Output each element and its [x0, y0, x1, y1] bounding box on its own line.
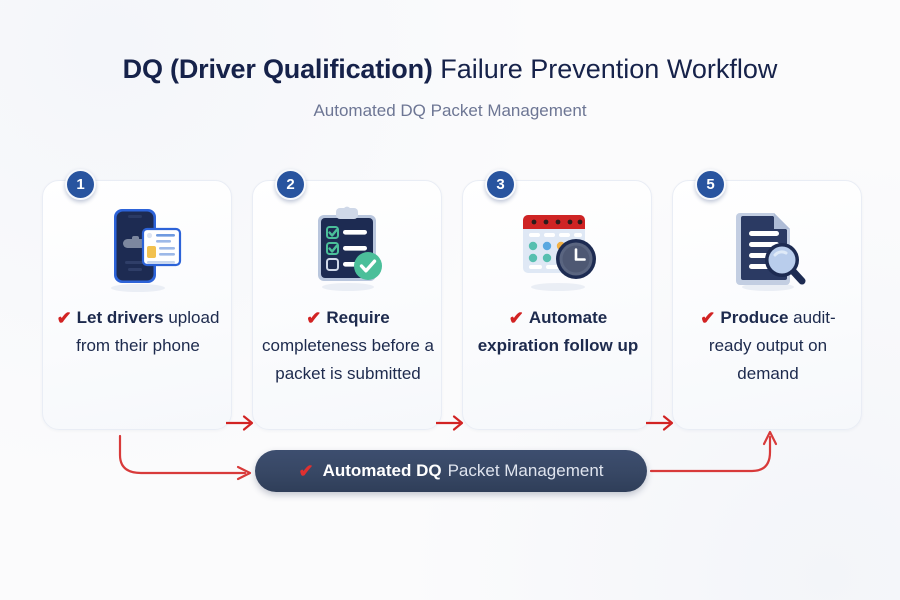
- check-icon: ✔: [298, 461, 313, 482]
- workflow-infographic: DQ (Driver Qualification) Failure Preven…: [0, 0, 900, 600]
- summary-banner[interactable]: ✔ Automated DQ Packet Management: [255, 450, 647, 492]
- banner-light-label: Packet Management: [448, 461, 604, 481]
- banner-strong-label: Automated DQ: [323, 461, 442, 481]
- flow-connectors: [0, 0, 900, 600]
